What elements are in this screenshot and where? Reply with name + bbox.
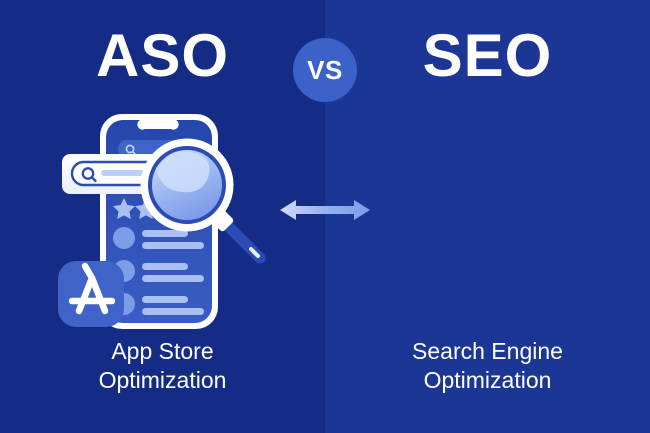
- vs-label: VS: [307, 55, 343, 86]
- double-headed-arrow-icon: [280, 196, 370, 224]
- app-store-icon: [58, 261, 124, 327]
- panel-aso: ASO: [0, 0, 325, 433]
- panel-seo: SEO: [325, 0, 650, 433]
- caption-aso-line2: Optimization: [0, 366, 325, 395]
- caption-seo-line1: Search Engine: [412, 338, 563, 364]
- caption-aso: App Store Optimization: [0, 337, 325, 396]
- infographic-canvas: ASO: [0, 0, 650, 433]
- caption-seo-line2: Optimization: [325, 366, 650, 395]
- caption-seo: Search Engine Optimization: [325, 337, 650, 396]
- illustration-smartphone: [48, 96, 288, 341]
- headline-seo: SEO: [325, 26, 650, 86]
- vs-badge: VS: [293, 38, 357, 102]
- caption-aso-line1: App Store: [111, 338, 213, 364]
- headline-aso: ASO: [0, 26, 325, 86]
